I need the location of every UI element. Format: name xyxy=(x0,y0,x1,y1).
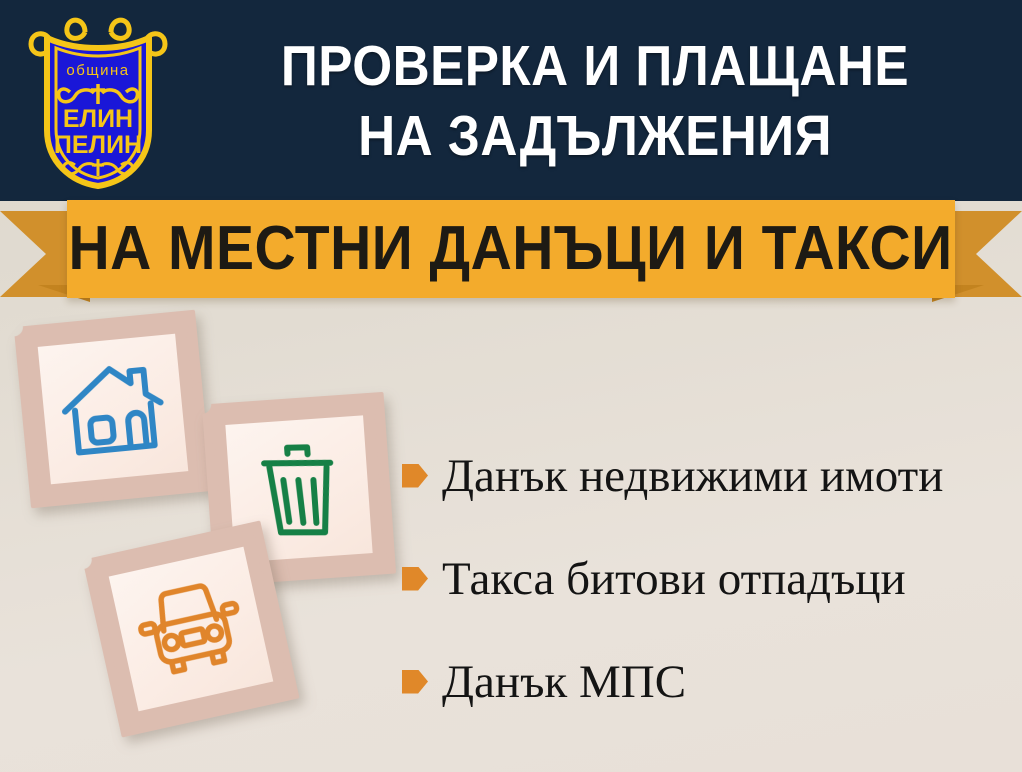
stamp-scallop xyxy=(134,537,155,558)
stamp-scallop xyxy=(99,545,120,566)
stamp-scallop xyxy=(49,315,69,335)
stamp-scallop xyxy=(12,381,32,401)
stamp-scallop xyxy=(384,555,403,574)
ribbon-main-panel: НА МЕСТНИ ДАНЪЦИ И ТАКСИ xyxy=(67,200,955,298)
stamp-card-property-tax xyxy=(14,310,213,509)
stamp-scallop xyxy=(14,399,34,419)
header-title-line-1: ПРОВЕРКА И ПЛАЩАНЕ xyxy=(231,31,960,101)
list-item[interactable]: Такса битови отпадъци xyxy=(402,527,1014,630)
stamp-scallop xyxy=(244,695,265,716)
stamp-scallop xyxy=(95,646,116,667)
services-list: Данък недвижими имоти Такса битови отпад… xyxy=(402,424,1014,733)
stamp-scallop xyxy=(341,565,360,584)
stamp-scallop xyxy=(155,715,176,736)
stamp-scallop xyxy=(273,626,294,647)
list-item-label: Такса битови отпадъци xyxy=(442,553,906,605)
stamp-scallop xyxy=(91,629,112,650)
arrow-pentagon-bullet-icon xyxy=(402,670,428,694)
stamp-scallop xyxy=(274,391,293,410)
list-item[interactable]: Данък недвижими имоти xyxy=(402,424,1014,527)
stamp-scallop xyxy=(374,410,393,429)
stamp-scallop xyxy=(201,495,220,514)
stamp-scallop xyxy=(7,326,27,346)
stamp-scallop xyxy=(19,453,39,473)
stamp-scallop xyxy=(80,575,101,596)
stamp-scallop xyxy=(117,541,138,562)
stamp-scallop xyxy=(187,345,207,365)
stamp-scallop xyxy=(347,386,366,405)
stamp-face xyxy=(38,334,189,485)
list-item-label: Данък недвижими имоти xyxy=(442,450,943,502)
stamp-scallop xyxy=(287,569,306,588)
stamp-scallop xyxy=(383,537,402,556)
municipality-crest-icon: община ЕЛИН ПЕЛИН xyxy=(23,12,173,190)
stamp-scallop xyxy=(323,566,342,585)
stamp-scallop xyxy=(305,568,324,587)
stamp-scallop xyxy=(329,387,348,406)
stamp-scallop xyxy=(379,482,398,501)
stamp-scallop xyxy=(188,525,209,546)
header-banner: община ЕЛИН ПЕЛИН xyxy=(0,0,1022,201)
svg-text:ЕЛИН: ЕЛИН xyxy=(63,105,133,133)
stamp-scallop xyxy=(380,500,399,519)
stamp-scallop xyxy=(191,382,211,402)
stamp-scallop xyxy=(226,699,247,720)
arrow-pentagon-bullet-icon xyxy=(402,464,428,488)
stamp-scallop xyxy=(170,529,191,550)
poster-root: община ЕЛИН ПЕЛИН xyxy=(0,0,1022,772)
arrow-pentagon-bullet-icon xyxy=(402,567,428,591)
stamp-scallop xyxy=(281,661,302,682)
stamp-scallop xyxy=(220,395,239,414)
stamp-scallop xyxy=(310,389,329,408)
ribbon-subtitle: НА МЕСТНИ ДАНЪЦИ И ТАКСИ xyxy=(69,218,953,280)
stamp-scallop xyxy=(381,519,400,538)
car-front-icon xyxy=(130,575,253,684)
stamp-scallop xyxy=(10,362,30,382)
stamp-card-vehicle-tax xyxy=(82,520,299,737)
stamp-scallop xyxy=(152,533,173,554)
stamp-scallop xyxy=(103,682,124,703)
stamp-scallop xyxy=(104,310,124,330)
stamp-scallop xyxy=(265,590,286,611)
stamp-scallop xyxy=(191,707,212,728)
stamp-face xyxy=(109,547,274,712)
stamp-scallop xyxy=(99,664,120,685)
stamp-scallop xyxy=(103,489,123,509)
stamp-scallop xyxy=(378,464,397,483)
stamp-scallop xyxy=(277,643,298,664)
stamp-scallop xyxy=(85,490,105,510)
list-item-label: Данък МПС xyxy=(442,656,686,708)
stamp-scallop xyxy=(139,485,159,505)
stamp-scallop xyxy=(66,492,86,512)
stamp-scallop xyxy=(186,327,206,347)
header-title-block: ПРОВЕРКА И ПЛАЩАНЕ НА ЗАДЪЛЖЕНИЯ xyxy=(190,31,1022,171)
stamp-scallop xyxy=(122,308,142,328)
stamp-scallop xyxy=(87,611,108,632)
stamp-scallop xyxy=(48,494,68,514)
stamp-scallop xyxy=(359,564,378,583)
stamp-scallop xyxy=(121,487,141,507)
stamp-scallop xyxy=(86,311,106,331)
list-item[interactable]: Данък МПС xyxy=(402,630,1014,733)
stamp-scallop xyxy=(292,390,311,409)
svg-text:ПЕЛИН: ПЕЛИН xyxy=(54,131,142,159)
svg-text:община: община xyxy=(66,62,129,79)
stamp-scallop xyxy=(17,435,37,455)
stamp-scallop xyxy=(208,703,229,724)
stamp-scallop xyxy=(15,417,35,437)
stamp-scallop xyxy=(262,691,283,712)
stamp-scallop xyxy=(67,313,87,333)
stamp-scallop xyxy=(140,306,160,326)
stamp-scallop xyxy=(189,363,209,383)
ribbon-banner: НА МЕСТНИ ДАНЪЦИ И ТАКСИ xyxy=(0,199,1022,309)
stamp-scallop xyxy=(84,593,105,614)
stamp-scallop xyxy=(376,446,395,465)
header-title-line-2: НА ЗАДЪЛЖЕНИЯ xyxy=(231,101,960,171)
stamp-scallop xyxy=(375,428,394,447)
stamp-scallop xyxy=(269,608,290,629)
stamp-scallop xyxy=(31,317,51,337)
stamp-scallop xyxy=(175,482,195,502)
stamp-scallop xyxy=(238,394,257,413)
crest-container: община ЕЛИН ПЕЛИН xyxy=(0,0,196,201)
stamp-scallop xyxy=(173,711,194,732)
stamp-scallop xyxy=(21,471,41,491)
stamp-scallop xyxy=(256,393,275,412)
trash-can-icon xyxy=(253,436,346,542)
stamp-scallop xyxy=(107,700,128,721)
house-icon xyxy=(57,356,170,462)
stamp-scallop xyxy=(8,344,28,364)
stamp-scallop xyxy=(137,719,158,740)
stamp-scallop xyxy=(157,483,177,503)
